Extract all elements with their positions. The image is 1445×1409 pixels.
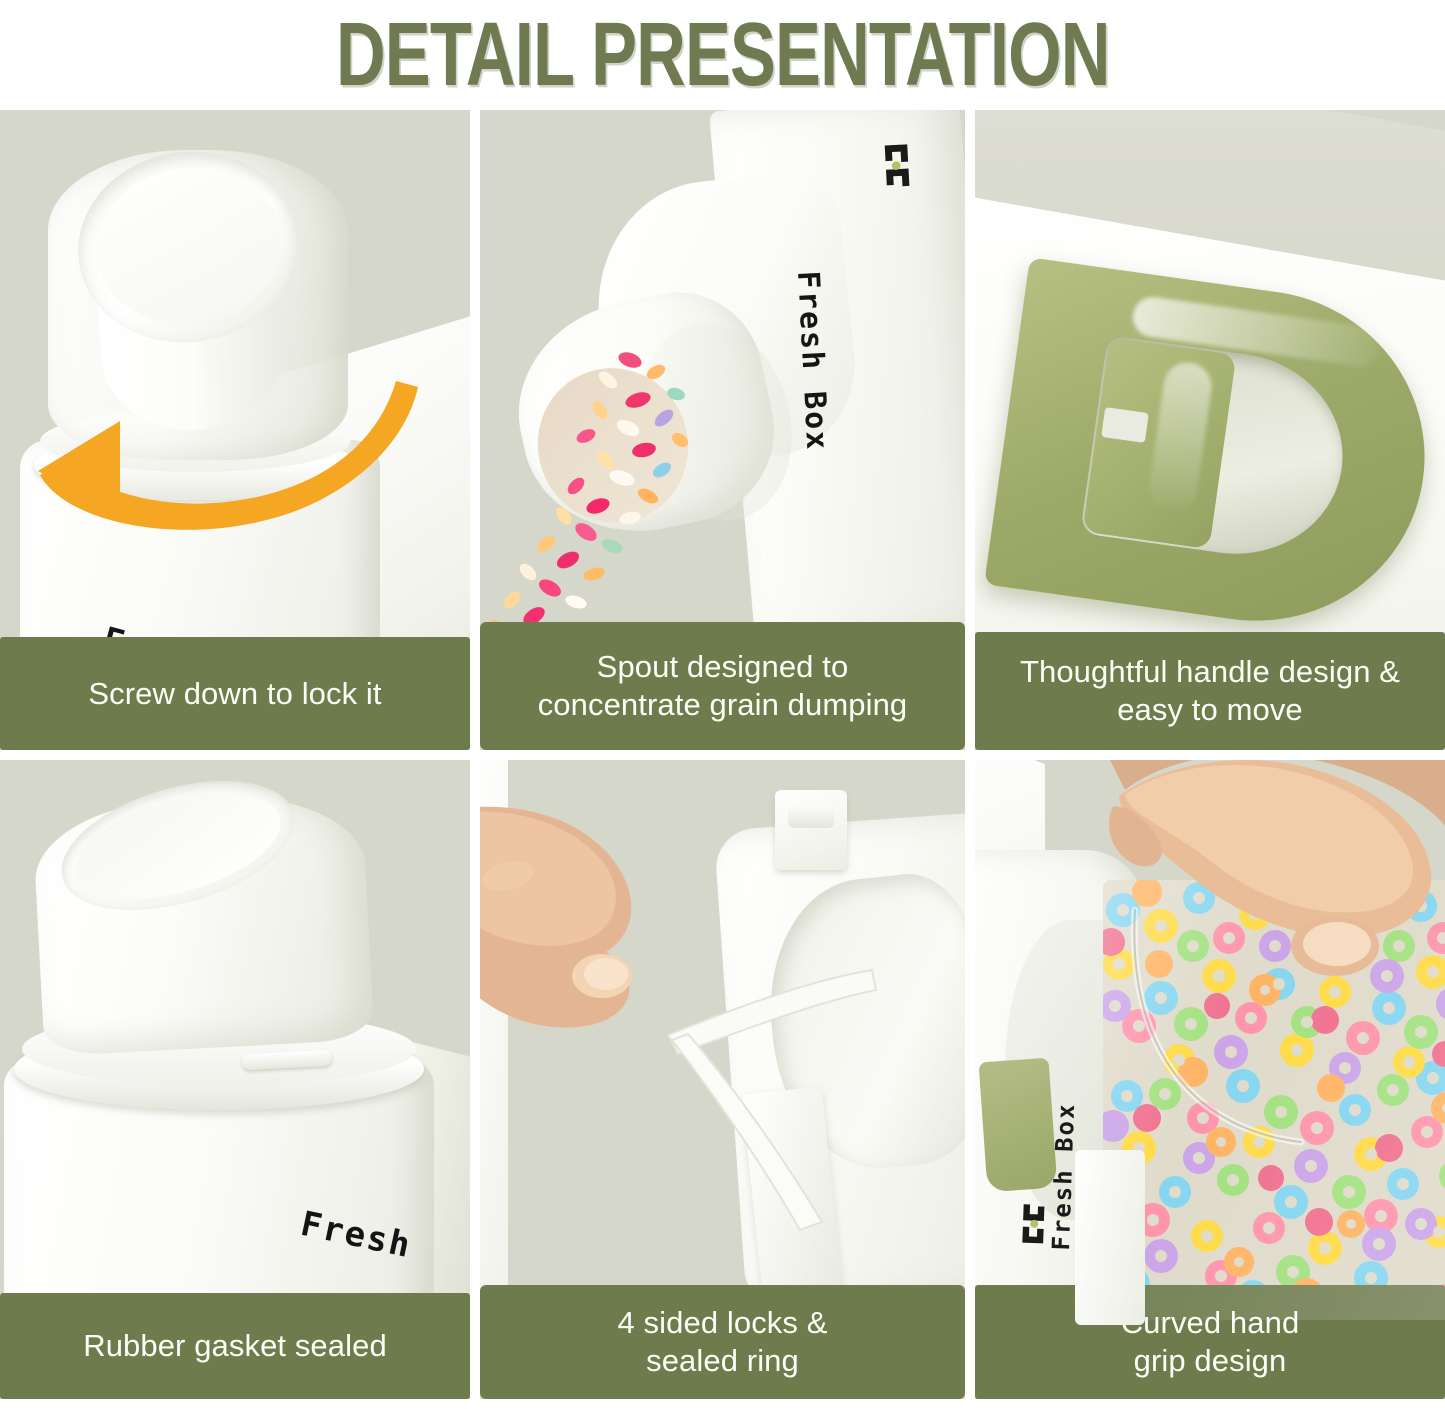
panel-locks[interactable]: 4 sided locks & sealed ring	[480, 760, 965, 1399]
grid-gap	[480, 750, 965, 760]
panel-caption-screw-lock: Screw down to lock it	[0, 637, 470, 750]
page-title-bar: DETAIL PRESENTATION	[0, 0, 1445, 110]
panel-caption-locks: 4 sided locks & sealed ring	[480, 1285, 965, 1399]
grid-gap	[965, 110, 975, 750]
lid-notch	[1101, 407, 1149, 443]
panel-handle[interactable]: Thoughtful handle design & easy to move	[975, 110, 1445, 750]
panel-screw-lock[interactable]: Fresh Box Screw down to lock it	[0, 110, 470, 750]
panel-caption-spout: Spout designed to concentrate grain dump…	[480, 622, 965, 750]
panel-gasket[interactable]: Fresh Rubber gasket sealed	[0, 760, 470, 1399]
grid-gap	[965, 760, 975, 1399]
panel-caption-handle: Thoughtful handle design & easy to move	[975, 632, 1445, 750]
container-front-tab	[1075, 1150, 1145, 1325]
caption-text: Thoughtful handle design & easy to move	[1020, 653, 1400, 729]
panel-spout[interactable]: Fresh Box Spout designed to concentrate …	[480, 110, 965, 750]
detail-panel-grid: Fresh Box Screw down to lock it	[0, 110, 1445, 1409]
d-handle	[984, 257, 1445, 642]
page-title: DETAIL PRESENTATION	[336, 10, 1110, 100]
grid-gap	[975, 750, 1445, 760]
grid-gap	[470, 110, 480, 750]
sealed-ring	[560, 840, 960, 1260]
panel-grip[interactable]: Fresh Box	[975, 760, 1445, 1399]
rotation-arrow-icon	[10, 325, 450, 555]
pouring-grain	[480, 320, 800, 650]
brand-logo-icon	[864, 139, 919, 194]
caption-text: 4 sided locks & sealed ring	[618, 1304, 828, 1380]
caption-text: Spout designed to concentrate grain dump…	[538, 648, 908, 724]
green-lock-tab	[979, 1058, 1058, 1193]
grid-gap	[0, 750, 470, 760]
grid-gap	[470, 760, 480, 1399]
panel-caption-gasket: Rubber gasket sealed	[0, 1293, 470, 1399]
grid-gap	[470, 750, 480, 760]
grid-gap	[965, 750, 975, 760]
panel-caption-grip: Curved hand grip design	[975, 1285, 1445, 1399]
hand	[1065, 760, 1445, 1050]
lock-clip-top-nub	[788, 806, 834, 828]
caption-text: Curved hand grip design	[1121, 1304, 1300, 1380]
